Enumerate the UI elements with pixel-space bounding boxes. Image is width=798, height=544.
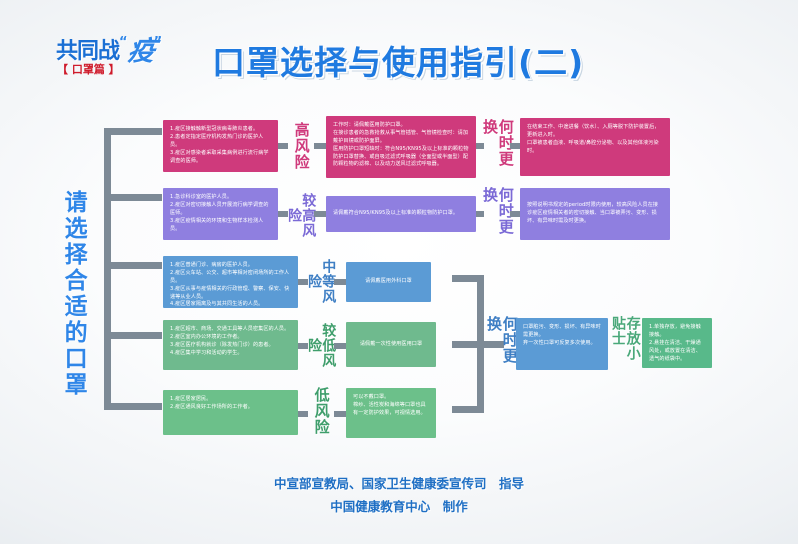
connector-higher-risk-right	[314, 211, 326, 217]
mask-line: 在接诊患者的急救抢救从事气管插管、气管镜检查时：请加戴护目镜或防护面屏。	[333, 130, 469, 146]
bracket-arm-middle	[452, 341, 480, 348]
left-bracket-connector	[104, 128, 162, 410]
replace-line: 口罩脏污、变形、损坏、有异味时需更换。	[523, 324, 601, 340]
bracket-arm-5	[104, 403, 162, 410]
right-bracket-connector	[452, 275, 484, 413]
mask-box-lower-risk: 请佩戴一次性使用医用口罩	[346, 322, 436, 367]
mask-line: 可以不戴口罩。	[353, 394, 429, 402]
mask-line: 请佩戴一次性使用医用口罩	[360, 341, 422, 349]
people-box-lower-risk: 1.疫区超市、商场、交通工具等人员密集区的人员。 2.疫区室内办公环境的工作者。…	[163, 320, 298, 370]
replace-box-higher-risk: 按照说明书规定的period时限内使用，较高风险人员在接诊疫区疫情相关者的密切接…	[520, 188, 670, 240]
bracket-arm-3	[104, 262, 162, 269]
people-line: 2.患者定指定医疗机构发热门诊的医护人员。	[170, 134, 271, 150]
storage-tip-line: 2.悬挂在清洁、干燥通风处，或放置在清洁、透气的纸袋中。	[649, 340, 705, 364]
people-line: 2.疫区对密切接触人员开展流行病学调查的医师。	[170, 202, 271, 218]
connector-low-risk-left	[298, 411, 308, 417]
bracket-arm-1	[104, 128, 162, 135]
footer-line-2: 中国健康教育中心 制作	[0, 495, 798, 518]
people-line: 4.疫区居家隔离及与其共同生活的人员。	[170, 301, 291, 308]
storage-tips-box: 1.单独存放，避免接触接触。 2.悬挂在清洁、干燥通风处，或放置在清洁、透气的纸…	[642, 318, 712, 368]
people-line: 2.疫区通风良好工作场所的工作者。	[170, 404, 291, 412]
people-line: 3.疫区从事与疫情相关的行政管理、警察、保安、快递等从业人员。	[170, 286, 291, 302]
people-line: 1.疫区接触触新型冠状病毒肺炎患者。	[170, 126, 271, 134]
mask-box-low-risk: 可以不戴口罩。 棉纱、活性炭和海绵等口罩也具有一定防护效果，可视情选用。	[346, 388, 436, 438]
mask-line: 请佩戴医用外科口罩	[365, 278, 412, 286]
mask-line: 医用防护口罩短缺时：符合N95/KN95及以上标准的颗粒物防护口罩替换、或自吸过…	[333, 146, 469, 170]
people-box-high-risk: 1.疫区接触触新型冠状病毒肺炎患者。 2.患者定指定医疗机构发热门诊的医护人员。…	[163, 120, 278, 172]
campaign-logo-main: 共同战“疫”	[56, 36, 161, 63]
people-line: 1.急诊科诊室的医护人员。	[170, 194, 271, 202]
mask-line: 工作时：请佩戴医用防护口罩。	[333, 122, 469, 130]
mask-line: 棉纱、活性炭和海绵等口罩也具有一定防护效果，可视情选用。	[353, 402, 429, 418]
campaign-logo-accent: 疫	[126, 38, 156, 65]
bracket-arm-2	[104, 194, 162, 201]
people-line: 2.疫区火车站、公交、超市等相对密闭场所的工作人员。	[170, 270, 291, 286]
bracket-arm-bottom	[452, 406, 480, 413]
replace-line: 弃一次性口罩可反复多次使用。	[523, 340, 601, 348]
connector-high-risk-left	[278, 143, 288, 149]
replace-line: 口罩被患者血液、呼吸道/鼻腔分泌物、以及其他体液污染时。	[527, 140, 663, 156]
bracket-arm-4	[104, 332, 162, 339]
connector-lower-risk-right	[334, 343, 346, 349]
replace-line: 按照说明书规定的period时限内使用，较高风险人员在接诊疫区疫情相关者的密切接…	[527, 202, 663, 226]
mask-box-high-risk: 工作时：请佩戴医用防护口罩。 在接诊患者的急救抢救从事气管插管、气管镜检查时：请…	[326, 116, 476, 178]
column-heading-when-to-replace-high: 何时更换	[484, 119, 510, 173]
people-box-low-risk: 1.疫区居家居民。 2.疫区通风良好工作场所的工作者。	[163, 390, 298, 435]
people-box-higher-risk: 1.急诊科诊室的医护人员。 2.疫区对密切接触人员开展流行病学调查的医师。 3.…	[163, 188, 278, 240]
bracket-spine	[477, 275, 484, 413]
people-line: 1.疫区普通门诊、病房的医护人员。	[170, 262, 291, 270]
mask-box-higher-risk: 请佩戴符合N95/KN95及以上标准的颗粒物防护口罩。	[326, 196, 476, 232]
risk-label-high: 高风险	[288, 120, 314, 172]
connector-low-risk-right	[334, 411, 346, 417]
people-line: 2.疫区室内办公环境的工作者。	[170, 334, 291, 342]
risk-label-lower: 较低风险	[308, 316, 334, 374]
replace-line: 在结束工作、中途进餐（饮水）、入厕等脱下防护装置后，更新进入时。	[527, 124, 663, 140]
bracket-spine	[104, 128, 111, 410]
people-line: 3.疫区医疗机构就诊（除发热门诊）的患者。	[170, 342, 291, 350]
campaign-logo-subtitle: 【 口罩篇 】	[57, 64, 120, 75]
people-line: 3.疫区疫情相关的环境和生物样本检测人员。	[170, 218, 271, 234]
people-line: 4.疫区集中学习和活动的学生。	[170, 350, 291, 358]
people-line: 1.疫区居家居民。	[170, 396, 291, 404]
people-box-medium-risk: 1.疫区普通门诊、病房的医护人员。 2.疫区火车站、公交、超市等相对密闭场所的工…	[163, 256, 298, 308]
left-vertical-heading: 请选择合适的口罩	[56, 168, 90, 420]
people-line: 3.疫区对感染者采取采集病例进行流行病学调查的医师。	[170, 150, 271, 166]
mask-line: 请佩戴符合N95/KN95及以上标准的颗粒物防护口罩。	[333, 210, 458, 218]
bracket-arm-top	[452, 275, 480, 282]
campaign-logo: 共同战“疫” 【 口罩篇 】	[56, 36, 186, 90]
people-line: 1.疫区超市、商场、交通工具等人员密集区的人员。	[170, 326, 291, 334]
campaign-logo-main-text: 共同战	[56, 39, 119, 64]
page-title: 口罩选择与使用指引(二)	[212, 42, 584, 85]
footer-credits: 中宣部宣教局、国家卫生健康委宣传司 指导 中国健康教育中心 制作	[0, 472, 798, 518]
connector-high-risk-replace-box	[510, 143, 520, 149]
infographic-poster: 共同战“疫” 【 口罩篇 】 口罩选择与使用指引(二) 请选择合适的口罩 1.疫…	[0, 0, 798, 544]
footer-line-1: 中宣部宣教局、国家卫生健康委宣传司 指导	[0, 472, 798, 495]
storage-tip-line: 1.单独存放，避免接触接触。	[649, 324, 705, 340]
risk-label-low: 低风险	[308, 384, 334, 438]
column-heading-storage-tips: 存放小贴士	[612, 316, 638, 374]
mask-box-medium-risk: 请佩戴医用外科口罩	[346, 262, 431, 302]
risk-label-higher: 较高风险	[288, 186, 314, 244]
replace-box-lower-group: 口罩脏污、变形、损坏、有异味时需更换。 弃一次性口罩可反复多次使用。	[516, 318, 608, 370]
replace-box-high-risk: 在结束工作、中途进餐（饮水）、入厕等脱下防护装置后，更新进入时。 口罩被患者血液…	[520, 118, 670, 176]
risk-label-medium: 中等风险	[308, 252, 334, 310]
column-heading-when-to-replace-higher: 何时更换	[484, 187, 510, 241]
connector-high-risk-right	[314, 143, 326, 149]
column-heading-when-to-replace-lower: 何时更换	[488, 316, 514, 372]
quote-open-glyph: “	[119, 35, 127, 50]
connector-medium-risk-right	[334, 279, 346, 285]
connector-higher-risk-replace-box	[510, 211, 520, 217]
